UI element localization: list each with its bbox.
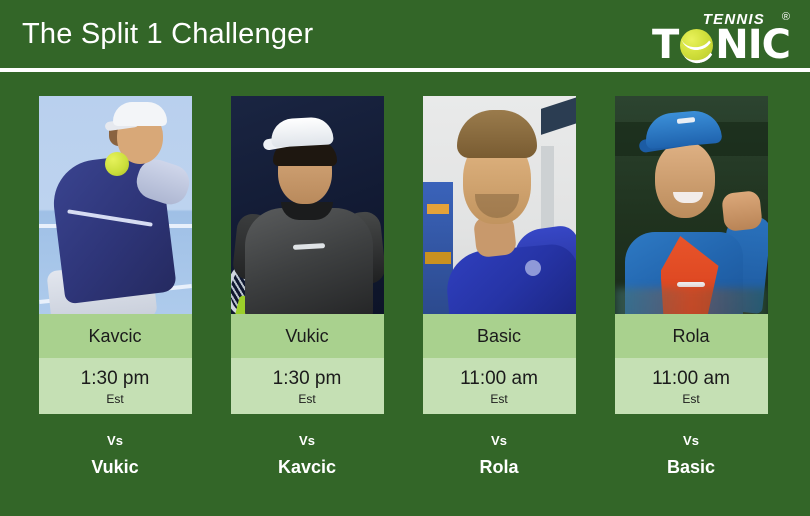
match-card[interactable]: Basic 11:00 am Est Vs Rola — [403, 72, 595, 516]
versus-block: Vs Basic — [615, 432, 768, 479]
match-card[interactable]: Rola 11:00 am Est Vs Basic — [595, 72, 787, 516]
versus-label: Vs — [615, 432, 768, 449]
versus-block: Vs Rola — [423, 432, 576, 479]
versus-block: Vs Kavcic — [231, 432, 384, 479]
match-time: 1:30 pm — [273, 367, 342, 390]
versus-label: Vs — [231, 432, 384, 449]
player-name-band: Vukic — [231, 314, 384, 358]
logo-bottom-wordmark: T NIC — [652, 27, 790, 63]
match-time: 11:00 am — [652, 367, 730, 390]
logo-letter-t: T — [652, 27, 678, 63]
versus-block: Vs Vukic — [39, 432, 192, 479]
player-photo-kavcic — [39, 96, 192, 314]
match-timezone: Est — [298, 392, 315, 407]
player-name-band: Basic — [423, 314, 576, 358]
tennis-ball-icon — [680, 29, 713, 62]
player-photo-basic — [423, 96, 576, 314]
logo-letters-nic: NIC — [715, 27, 790, 63]
match-card-grid: Kavcic 1:30 pm Est Vs Vukic Vukic 1:30 p… — [0, 72, 810, 516]
match-time-band: 1:30 pm Est — [39, 358, 192, 414]
player-name: Kavcic — [88, 325, 141, 347]
match-time-band: 1:30 pm Est — [231, 358, 384, 414]
opponent-name: Kavcic — [231, 455, 384, 479]
opponent-name: Basic — [615, 455, 768, 479]
player-name: Basic — [477, 325, 521, 347]
versus-label: Vs — [39, 432, 192, 449]
match-timezone: Est — [490, 392, 507, 407]
opponent-name: Rola — [423, 455, 576, 479]
player-photo-rola — [615, 96, 768, 314]
match-time-band: 11:00 am Est — [615, 358, 768, 414]
page-header: The Split 1 Challenger TENNIS ® T NIC — [0, 0, 810, 68]
match-time-band: 11:00 am Est — [423, 358, 576, 414]
player-name-band: Kavcic — [39, 314, 192, 358]
match-time: 1:30 pm — [81, 367, 150, 390]
player-name: Vukic — [285, 325, 328, 347]
match-timezone: Est — [106, 392, 123, 407]
match-timezone: Est — [682, 392, 699, 407]
opponent-name: Vukic — [39, 455, 192, 479]
versus-label: Vs — [423, 432, 576, 449]
match-card[interactable]: Kavcic 1:30 pm Est Vs Vukic — [19, 72, 211, 516]
match-time: 11:00 am — [460, 367, 538, 390]
match-card[interactable]: Vukic 1:30 pm Est Vs Kavcic — [211, 72, 403, 516]
tennis-tonic-logo[interactable]: TENNIS ® T NIC — [638, 6, 798, 64]
page-title: The Split 1 Challenger — [22, 16, 313, 53]
player-name: Rola — [672, 325, 709, 347]
player-name-band: Rola — [615, 314, 768, 358]
player-photo-vukic — [231, 96, 384, 314]
